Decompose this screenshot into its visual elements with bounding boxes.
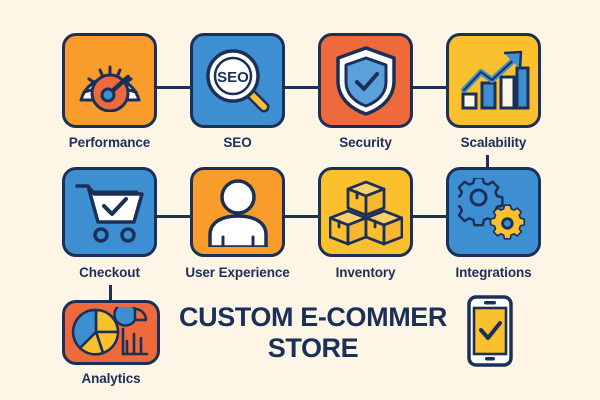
smartphone-check-icon (466, 294, 514, 373)
connector-checkout-to-ux (155, 215, 193, 218)
infographic-canvas: Performance SEO SEO Security (0, 0, 600, 400)
shield-check-icon (333, 45, 399, 117)
tile-user-experience[interactable] (190, 167, 285, 257)
label-checkout: Checkout (55, 265, 164, 280)
stacked-boxes-icon (329, 178, 403, 246)
label-performance: Performance (44, 135, 175, 150)
label-analytics: Analytics (62, 371, 160, 386)
page-title-line-2: STORE (168, 333, 458, 364)
pie-bar-chart-icon (71, 307, 151, 359)
tile-seo[interactable]: SEO (190, 33, 285, 128)
tile-security[interactable] (318, 33, 413, 128)
page-title: CUSTOM E-COMMER STORE (168, 302, 458, 364)
label-inventory: Inventory (318, 265, 413, 280)
label-user-experience: User Experience (180, 265, 295, 280)
growth-chart-icon (458, 48, 530, 114)
magnifier-seo-icon: SEO (202, 45, 274, 117)
tile-inventory[interactable] (318, 167, 413, 257)
tile-checkout[interactable] (62, 167, 157, 257)
label-security: Security (318, 135, 413, 150)
page-title-line-1: CUSTOM E-COMMER (179, 302, 447, 332)
tile-integrations[interactable] (446, 167, 541, 257)
label-seo: SEO (190, 135, 285, 150)
label-integrations: Integrations (438, 265, 549, 280)
user-person-icon (205, 177, 271, 247)
connector-performance-to-seo (155, 86, 193, 89)
label-scalability: Scalability (440, 135, 547, 150)
tile-scalability[interactable] (446, 33, 541, 128)
shopping-cart-check-icon (74, 180, 146, 244)
tile-analytics[interactable] (62, 300, 160, 365)
tile-performance[interactable] (62, 33, 157, 128)
two-gears-icon (458, 178, 530, 246)
seo-icon-text: SEO (217, 69, 249, 86)
speedometer-icon (75, 50, 145, 112)
